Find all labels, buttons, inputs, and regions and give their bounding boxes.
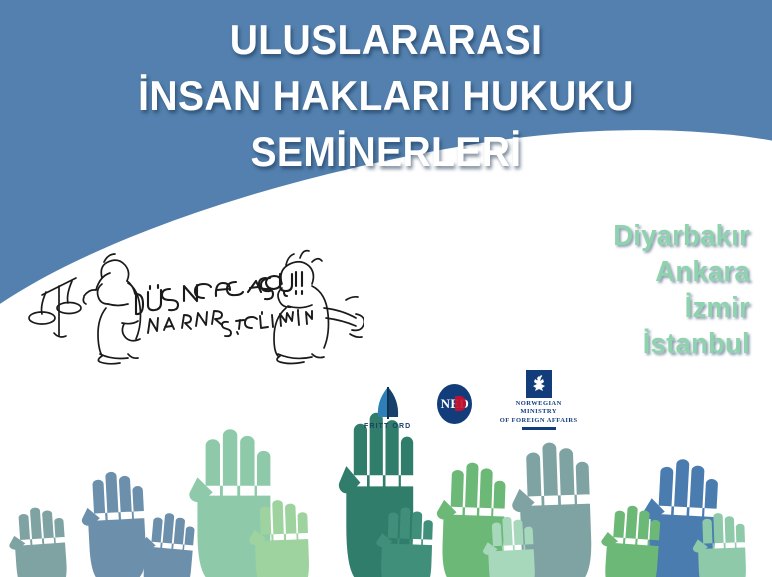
sponsor-logos: FRITT ORD NED NORWEGIAN MINISTRY OF FORE… (364, 376, 579, 430)
title-line-1: ULUSLARARASI (27, 12, 745, 68)
logo-nmfa-label-line-1: NORWEGIAN MINISTRY (498, 400, 579, 417)
title-line-3: SEMİNERLERİ (27, 124, 745, 180)
hand (79, 470, 147, 577)
thought-crime-cartoon: DÜŞÜNCE SUÇU!? NA KARŞI GİRİŞİM (24, 248, 364, 373)
norwegian-lion-crest-icon (526, 370, 552, 398)
hand-silhouette (79, 470, 147, 577)
logo-fritt-ord: FRITT ORD (364, 387, 411, 430)
poster-canvas: ULUSLARARASI İNSAN HAKLARI HUKUKU SEMİNE… (0, 0, 772, 577)
hand-silhouette (7, 506, 69, 577)
logo-fritt-ord-label: FRITT ORD (364, 423, 411, 430)
logo-ned: NED (437, 384, 472, 424)
city-item-ankara: Ankara (613, 254, 750, 290)
hand-silhouette (137, 511, 196, 577)
logo-nmfa-label-line-2: OF FOREIGN AFFAIRS (498, 417, 579, 426)
logo-nmfa-rule (522, 427, 556, 430)
hand (137, 511, 196, 577)
logo-norwegian-ministry: NORWEGIAN MINISTRY OF FOREIGN AFFAIRS (498, 370, 579, 431)
hand (7, 506, 69, 577)
city-item-izmir: İzmir (613, 290, 750, 326)
title-line-2: İNSAN HAKLARI HUKUKU (27, 68, 745, 124)
city-item-diyarbakir: Diyarbakır (613, 218, 750, 254)
page-title: ULUSLARARASI İNSAN HAKLARI HUKUKU SEMİNE… (0, 12, 772, 180)
city-list: Diyarbakır Ankara İzmir İstanbul (606, 218, 750, 362)
city-item-istanbul: İstanbul (613, 326, 750, 362)
leaf-mark-icon (375, 387, 401, 421)
